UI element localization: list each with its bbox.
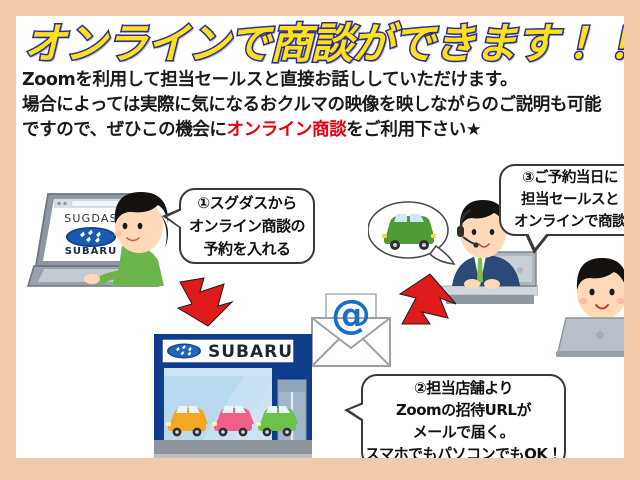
home-user-illustration: SUGDAS SUBARU [26,174,186,294]
callout-step-2-line-3: メールで届く。 [413,421,515,443]
dealership-sign-text: SUBARU [208,342,293,362]
body-copy: Zoomを利用して担当セールスと直接お話ししていただけます。 場合によっては実際… [22,68,618,143]
callout-step-2-line-4: スマホでもパソコンでもOK！ [365,443,562,458]
poster-root: オンラインで商談ができます！！ Zoomを利用して担当セールスと直接お話ししてい… [0,0,640,480]
laptop-screen-logo-text: SUBARU [65,246,118,257]
body-copy-line-3-prefix: ですので、ぜひこの機会に [22,120,227,140]
callout-step-1-line-2: オンライン商談の [189,215,305,238]
customer-illustration [556,248,624,358]
callout-step-2: ②担当店舗より Zoomの招待URLが メールで届く。 スマホでもパソコンでもO… [361,374,566,458]
callout-step-3-line-1: ③ご予約当日に [522,167,618,189]
callout-step-1-line-1: ①スグダスから [197,192,296,215]
callout-step-2-tail-inner [349,404,364,420]
poster-sheet: オンラインで商談ができます！！ Zoomを利用して担当セールスと直接お話ししてい… [16,16,624,458]
flow-arrow-1 [174,268,244,330]
body-copy-highlight: オンライン商談 [227,120,347,140]
body-copy-line-3-suffix: をご利用下さい★ [346,120,481,140]
callout-step-3-line-2: 担当セールスと [521,189,619,211]
body-copy-line-2: 場合によっては実際に気になるおクルマの映像を映しながらのご説明も可能 [22,93,618,118]
callout-step-1-tail-inner [167,210,182,228]
callout-step-2-line-1: ②担当店舗より [414,377,513,399]
body-copy-line-1: Zoomを利用して担当セールスと直接お話ししていただけます。 [22,68,618,93]
callout-step-1-line-3: 予約を入れる [203,238,290,261]
callout-step-3-tail-inner [528,233,547,248]
callout-step-3-line-3: オンラインで商談 [514,211,624,233]
body-copy-line-3: ですので、ぜひこの機会にオンライン商談をご利用下さい★ [22,118,618,143]
callout-step-1: ①スグダスから オンライン商談の 予約を入れる [179,188,315,264]
callout-step-2-line-2: Zoomの招待URLが [396,399,531,421]
at-symbol-icon: @ [331,292,371,338]
page-title: オンラインで商談ができます！！ [24,20,624,68]
dealership-illustration: SUBARU [148,328,328,458]
flow-arrow-2 [392,266,464,330]
callout-step-3: ③ご予約当日に 担当セールスと オンラインで商談 [499,164,624,236]
laptop-screen-brand: SUGDAS [64,212,118,225]
